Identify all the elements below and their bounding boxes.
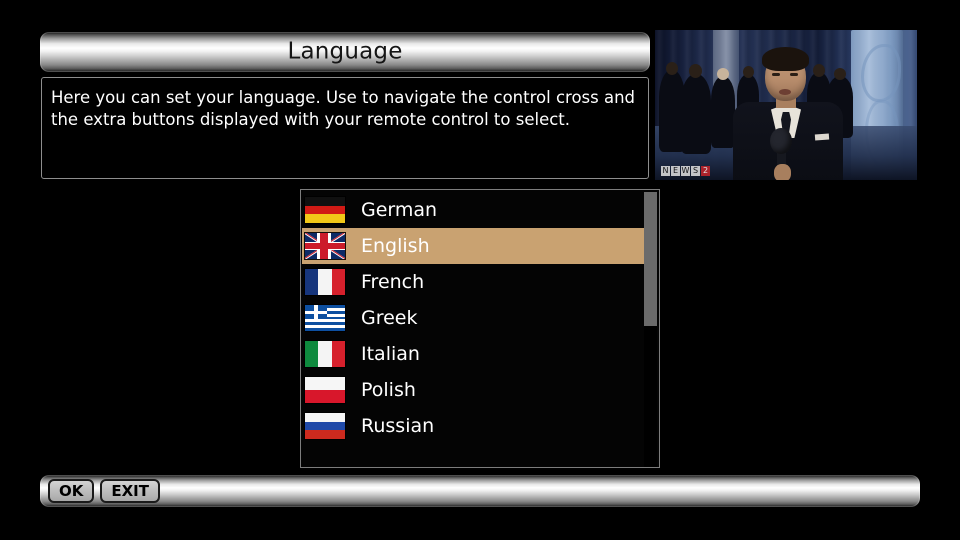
flag-united-kingdom-icon — [305, 233, 345, 259]
ok-button[interactable]: OK — [48, 479, 94, 503]
channel-logo-letter: S — [691, 166, 700, 176]
list-scrollbar-thumb[interactable] — [644, 192, 657, 326]
list-item-german[interactable]: German — [302, 192, 644, 228]
flag-france-icon — [305, 269, 345, 295]
flag-germany-icon — [305, 197, 345, 223]
preview-presenter-pocket-square — [815, 134, 829, 141]
flag-russia-icon — [305, 413, 345, 439]
list-item-label: Russian — [361, 417, 434, 436]
list-item-french[interactable]: French — [302, 264, 644, 300]
list-item-italian[interactable]: Italian — [302, 336, 644, 372]
footer-bar — [40, 475, 920, 507]
list-item-label: Italian — [361, 345, 420, 364]
language-list: German English — [302, 192, 644, 444]
flag-italy-icon — [305, 341, 345, 367]
preview-crowd-head — [717, 68, 729, 80]
flag-poland-icon — [305, 377, 345, 403]
preview-crowd-head — [689, 64, 702, 78]
list-item-russian[interactable]: Russian — [302, 408, 644, 444]
language-list-panel[interactable]: German English — [300, 189, 660, 468]
preview-presenter-eye — [790, 73, 798, 76]
preview-microphone-head — [770, 128, 792, 154]
description-text: Here you can set your language. Use to n… — [51, 87, 639, 131]
preview-presenter-mouth — [779, 89, 791, 95]
description-box: Here you can set your language. Use to n… — [41, 77, 649, 179]
page-title: Language — [40, 41, 650, 64]
channel-logo-letter: W — [681, 166, 690, 176]
preview-presenter-hair — [762, 47, 809, 71]
list-item-greek[interactable]: Greek — [302, 300, 644, 336]
list-item-label: German — [361, 201, 437, 220]
list-item-label: English — [361, 237, 430, 256]
list-item-english[interactable]: English — [302, 228, 644, 264]
title-bar: Language — [40, 32, 650, 72]
preview-crowd-head — [813, 64, 825, 77]
channel-logo-number: 2 — [701, 166, 710, 176]
preview-crowd-head — [666, 62, 678, 75]
channel-logo-letter: E — [671, 166, 680, 176]
channel-logo-letter: N — [661, 166, 670, 176]
footer-button-row: OK EXIT — [48, 479, 160, 503]
flag-greece-icon — [305, 305, 345, 331]
list-scrollbar-track[interactable] — [644, 192, 657, 467]
list-item-label: Greek — [361, 309, 418, 328]
preview-presenter-eye — [772, 73, 780, 76]
preview-presenter-hand — [774, 164, 791, 180]
preview-crowd-head — [834, 68, 846, 80]
osd-screen: Language Here you can set your language.… — [0, 0, 960, 540]
list-item-label: French — [361, 273, 424, 292]
channel-logo-watermark: N E W S 2 — [661, 166, 710, 176]
preview-crowd-head — [743, 66, 754, 78]
list-item-polish[interactable]: Polish — [302, 372, 644, 408]
exit-button[interactable]: EXIT — [100, 479, 160, 503]
list-item-label: Polish — [361, 381, 416, 400]
preview-crowd-figure — [681, 74, 711, 154]
preview-crowd-figure — [711, 76, 735, 148]
live-tv-preview[interactable]: N E W S 2 — [655, 30, 917, 180]
